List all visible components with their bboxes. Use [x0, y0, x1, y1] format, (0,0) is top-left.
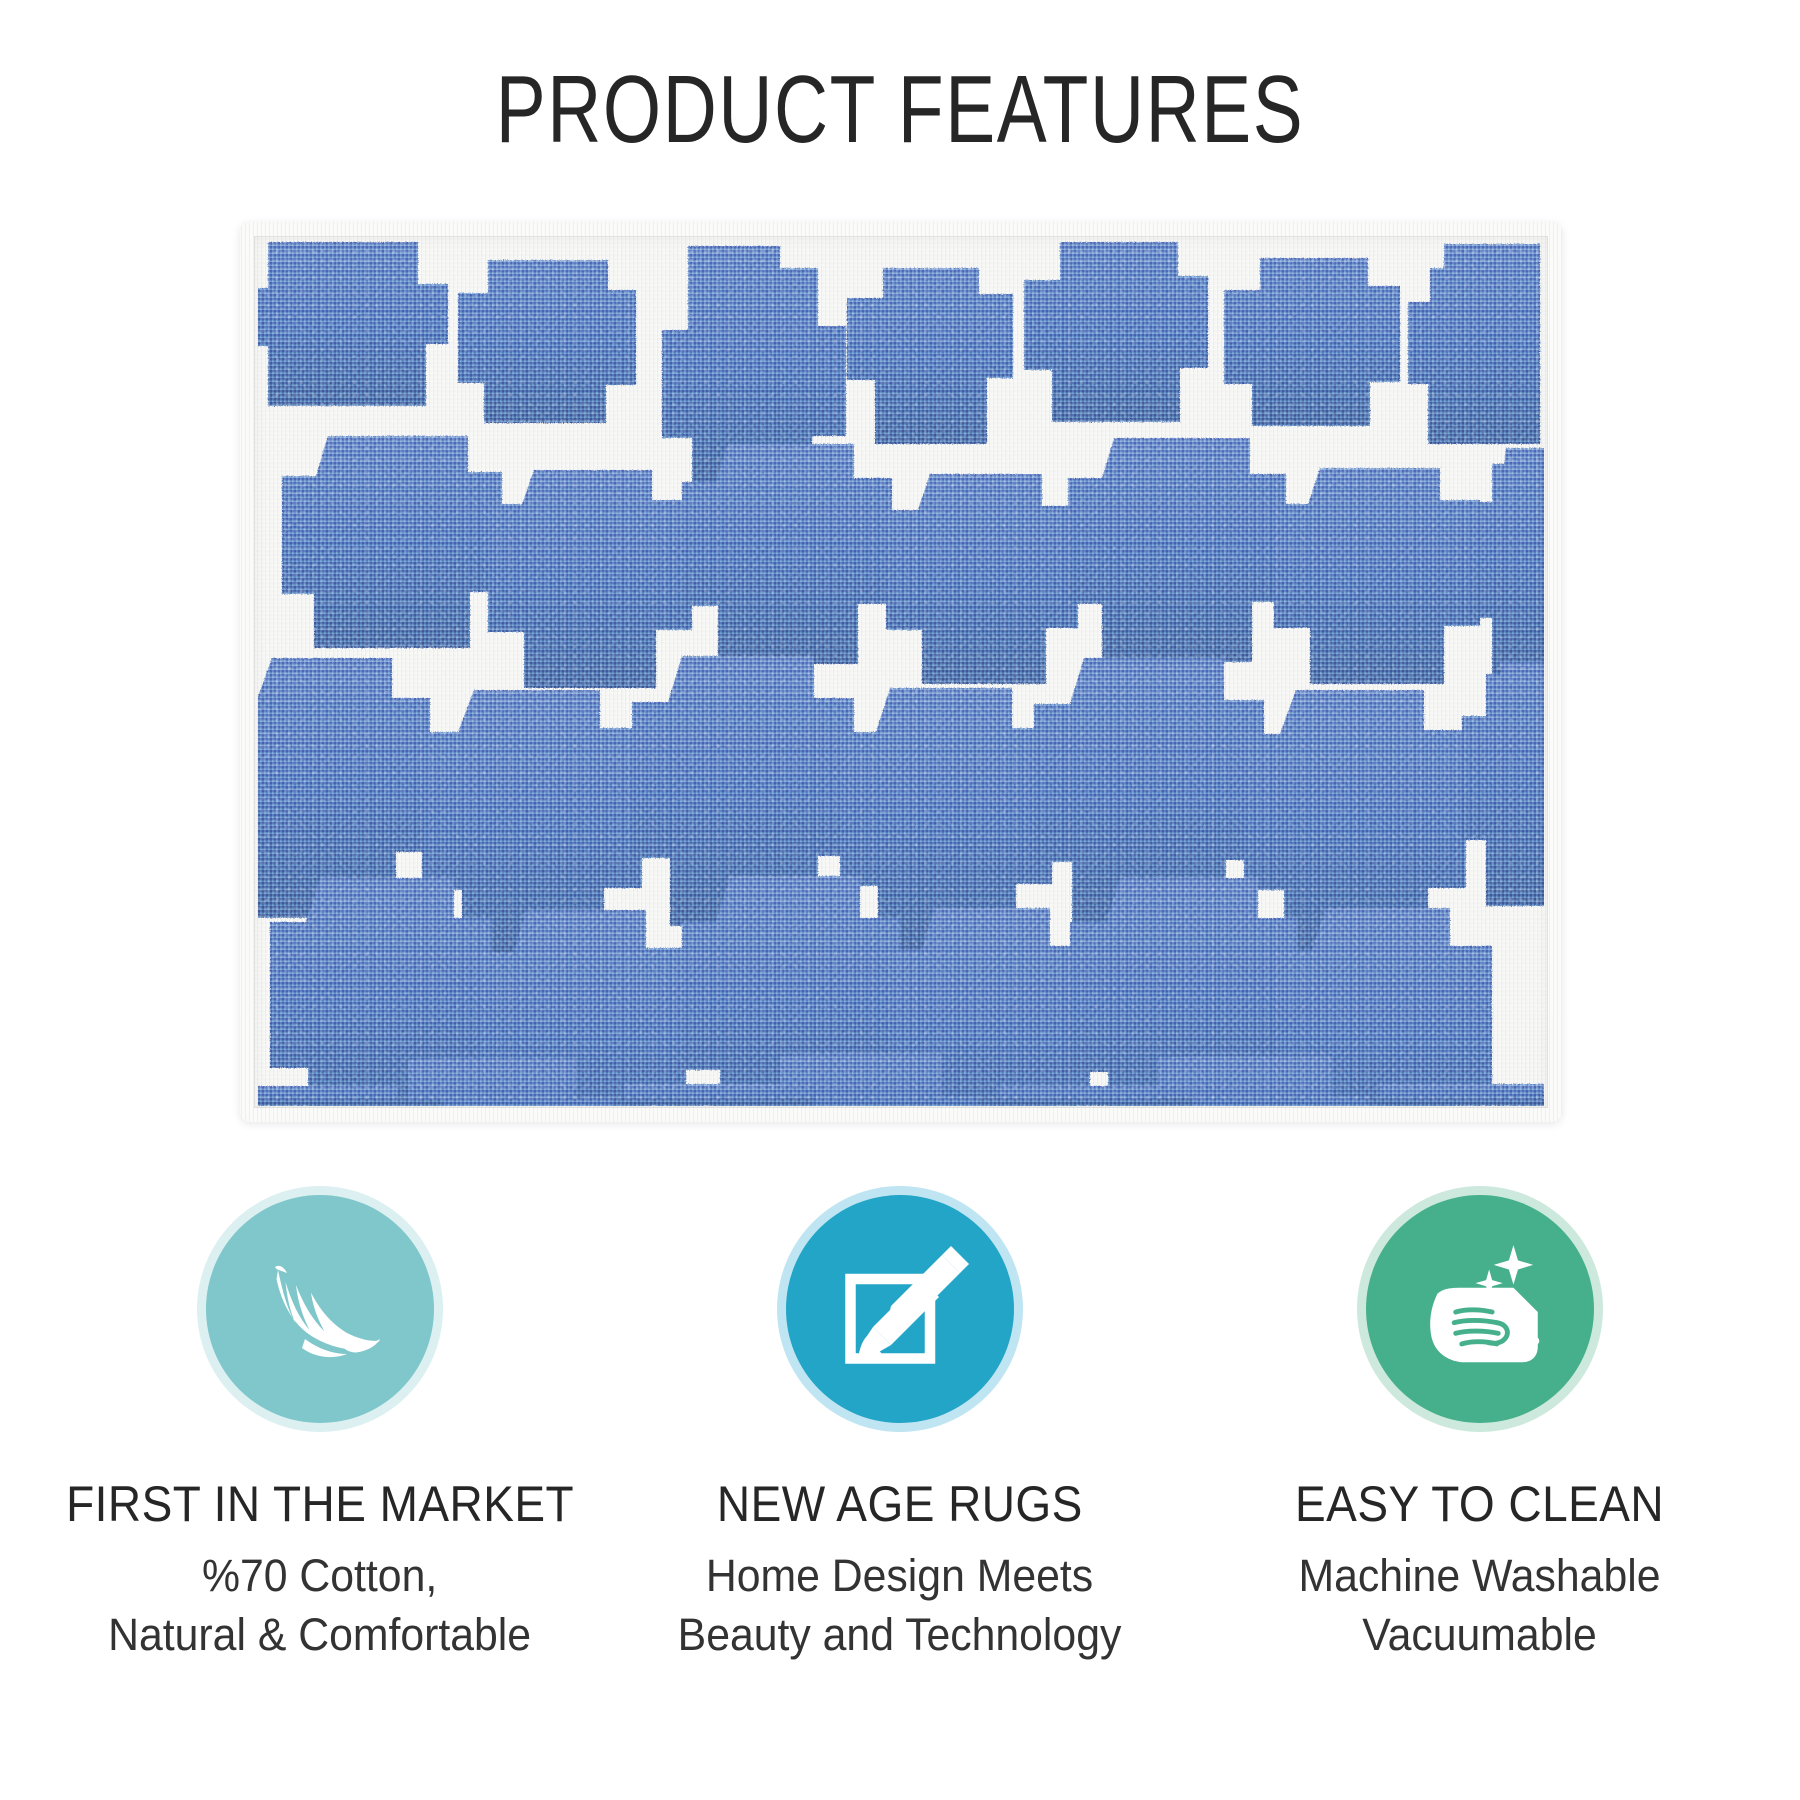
feature-first-in-the-market: FIRST IN THE MARKET %70 Cotton, Natural … — [60, 1195, 580, 1664]
feature-line: Natural & Comfortable — [109, 1606, 532, 1665]
feature-line: %70 Cotton, — [109, 1547, 532, 1606]
design-pen-square-icon — [825, 1234, 975, 1384]
feature-line: Machine Washable — [1299, 1547, 1661, 1606]
product-image — [240, 222, 1562, 1122]
rug-pattern — [258, 238, 1544, 1106]
feature-new-age-rugs: NEW AGE RUGS Home Design Meets Beauty an… — [640, 1195, 1160, 1664]
feature-list: FIRST IN THE MARKET %70 Cotton, Natural … — [0, 1195, 1800, 1664]
feature-title: FIRST IN THE MARKET — [66, 1477, 574, 1531]
page-title: PRODUCT FEATURES — [198, 62, 1602, 158]
feature-easy-to-clean: EASY TO CLEAN Machine Washable Vacuumabl… — [1220, 1195, 1740, 1664]
feather-icon-badge — [206, 1195, 434, 1423]
feature-description: Machine Washable Vacuumable — [1299, 1547, 1661, 1664]
feature-line: Vacuumable — [1299, 1606, 1661, 1665]
hand-wipe-clean-icon-badge — [1366, 1195, 1594, 1423]
feature-line: Beauty and Technology — [678, 1606, 1122, 1665]
feature-title: EASY TO CLEAN — [1295, 1477, 1664, 1531]
feature-line: Home Design Meets — [678, 1547, 1122, 1606]
rug-photo — [240, 222, 1562, 1122]
feather-icon — [245, 1234, 395, 1384]
feature-title: NEW AGE RUGS — [717, 1477, 1083, 1531]
hand-wipe-clean-icon — [1404, 1233, 1556, 1385]
feature-description: %70 Cotton, Natural & Comfortable — [109, 1547, 532, 1664]
feature-description: Home Design Meets Beauty and Technology — [678, 1547, 1122, 1664]
design-pen-square-icon-badge — [786, 1195, 1014, 1423]
